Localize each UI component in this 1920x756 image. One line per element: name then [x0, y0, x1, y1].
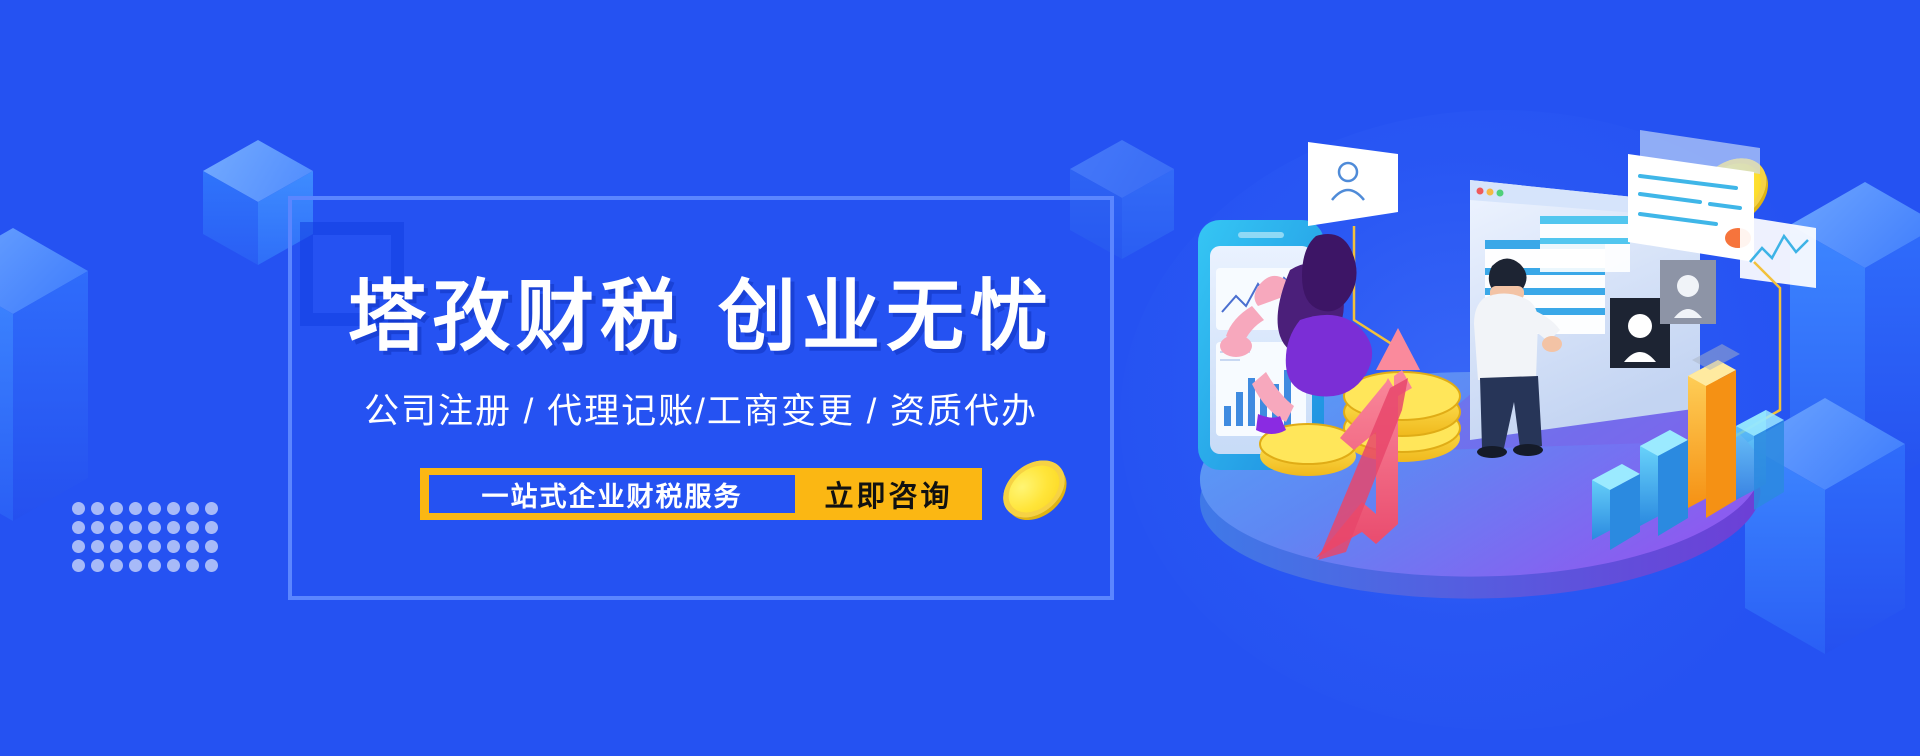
- profile-card-icon: [1308, 142, 1398, 226]
- line-chart-card-icon: [1740, 216, 1816, 288]
- bar-blue-2: [1640, 430, 1688, 536]
- service-subtitle: 公司注册 / 代理记账/工商变更 / 资质代办: [364, 383, 1038, 434]
- headline-part-2: 创业无忧: [718, 272, 1054, 360]
- cta-bar[interactable]: 一站式企业财税服务 立即咨询: [420, 468, 982, 520]
- dot-grid-decoration: [72, 502, 224, 578]
- isometric-block-icon: [0, 228, 148, 558]
- isometric-finance-illustration: [1140, 120, 1840, 640]
- consult-now-button[interactable]: 立即咨询: [795, 473, 982, 515]
- page-title: 塔孜财税创业无忧: [348, 276, 1054, 358]
- bar-blue-3: [1736, 410, 1784, 510]
- promo-banner: 塔孜财税创业无忧 公司注册 / 代理记账/工商变更 / 资质代办 一站式企业财税…: [0, 0, 1920, 756]
- cta-tag-label: 一站式企业财税服务: [429, 475, 795, 513]
- hero-content: 塔孜财税创业无忧 公司注册 / 代理记账/工商变更 / 资质代办 一站式企业财税…: [288, 196, 1114, 600]
- headline-part-1: 塔孜财税: [348, 272, 684, 360]
- avatar-tile: [1660, 260, 1716, 324]
